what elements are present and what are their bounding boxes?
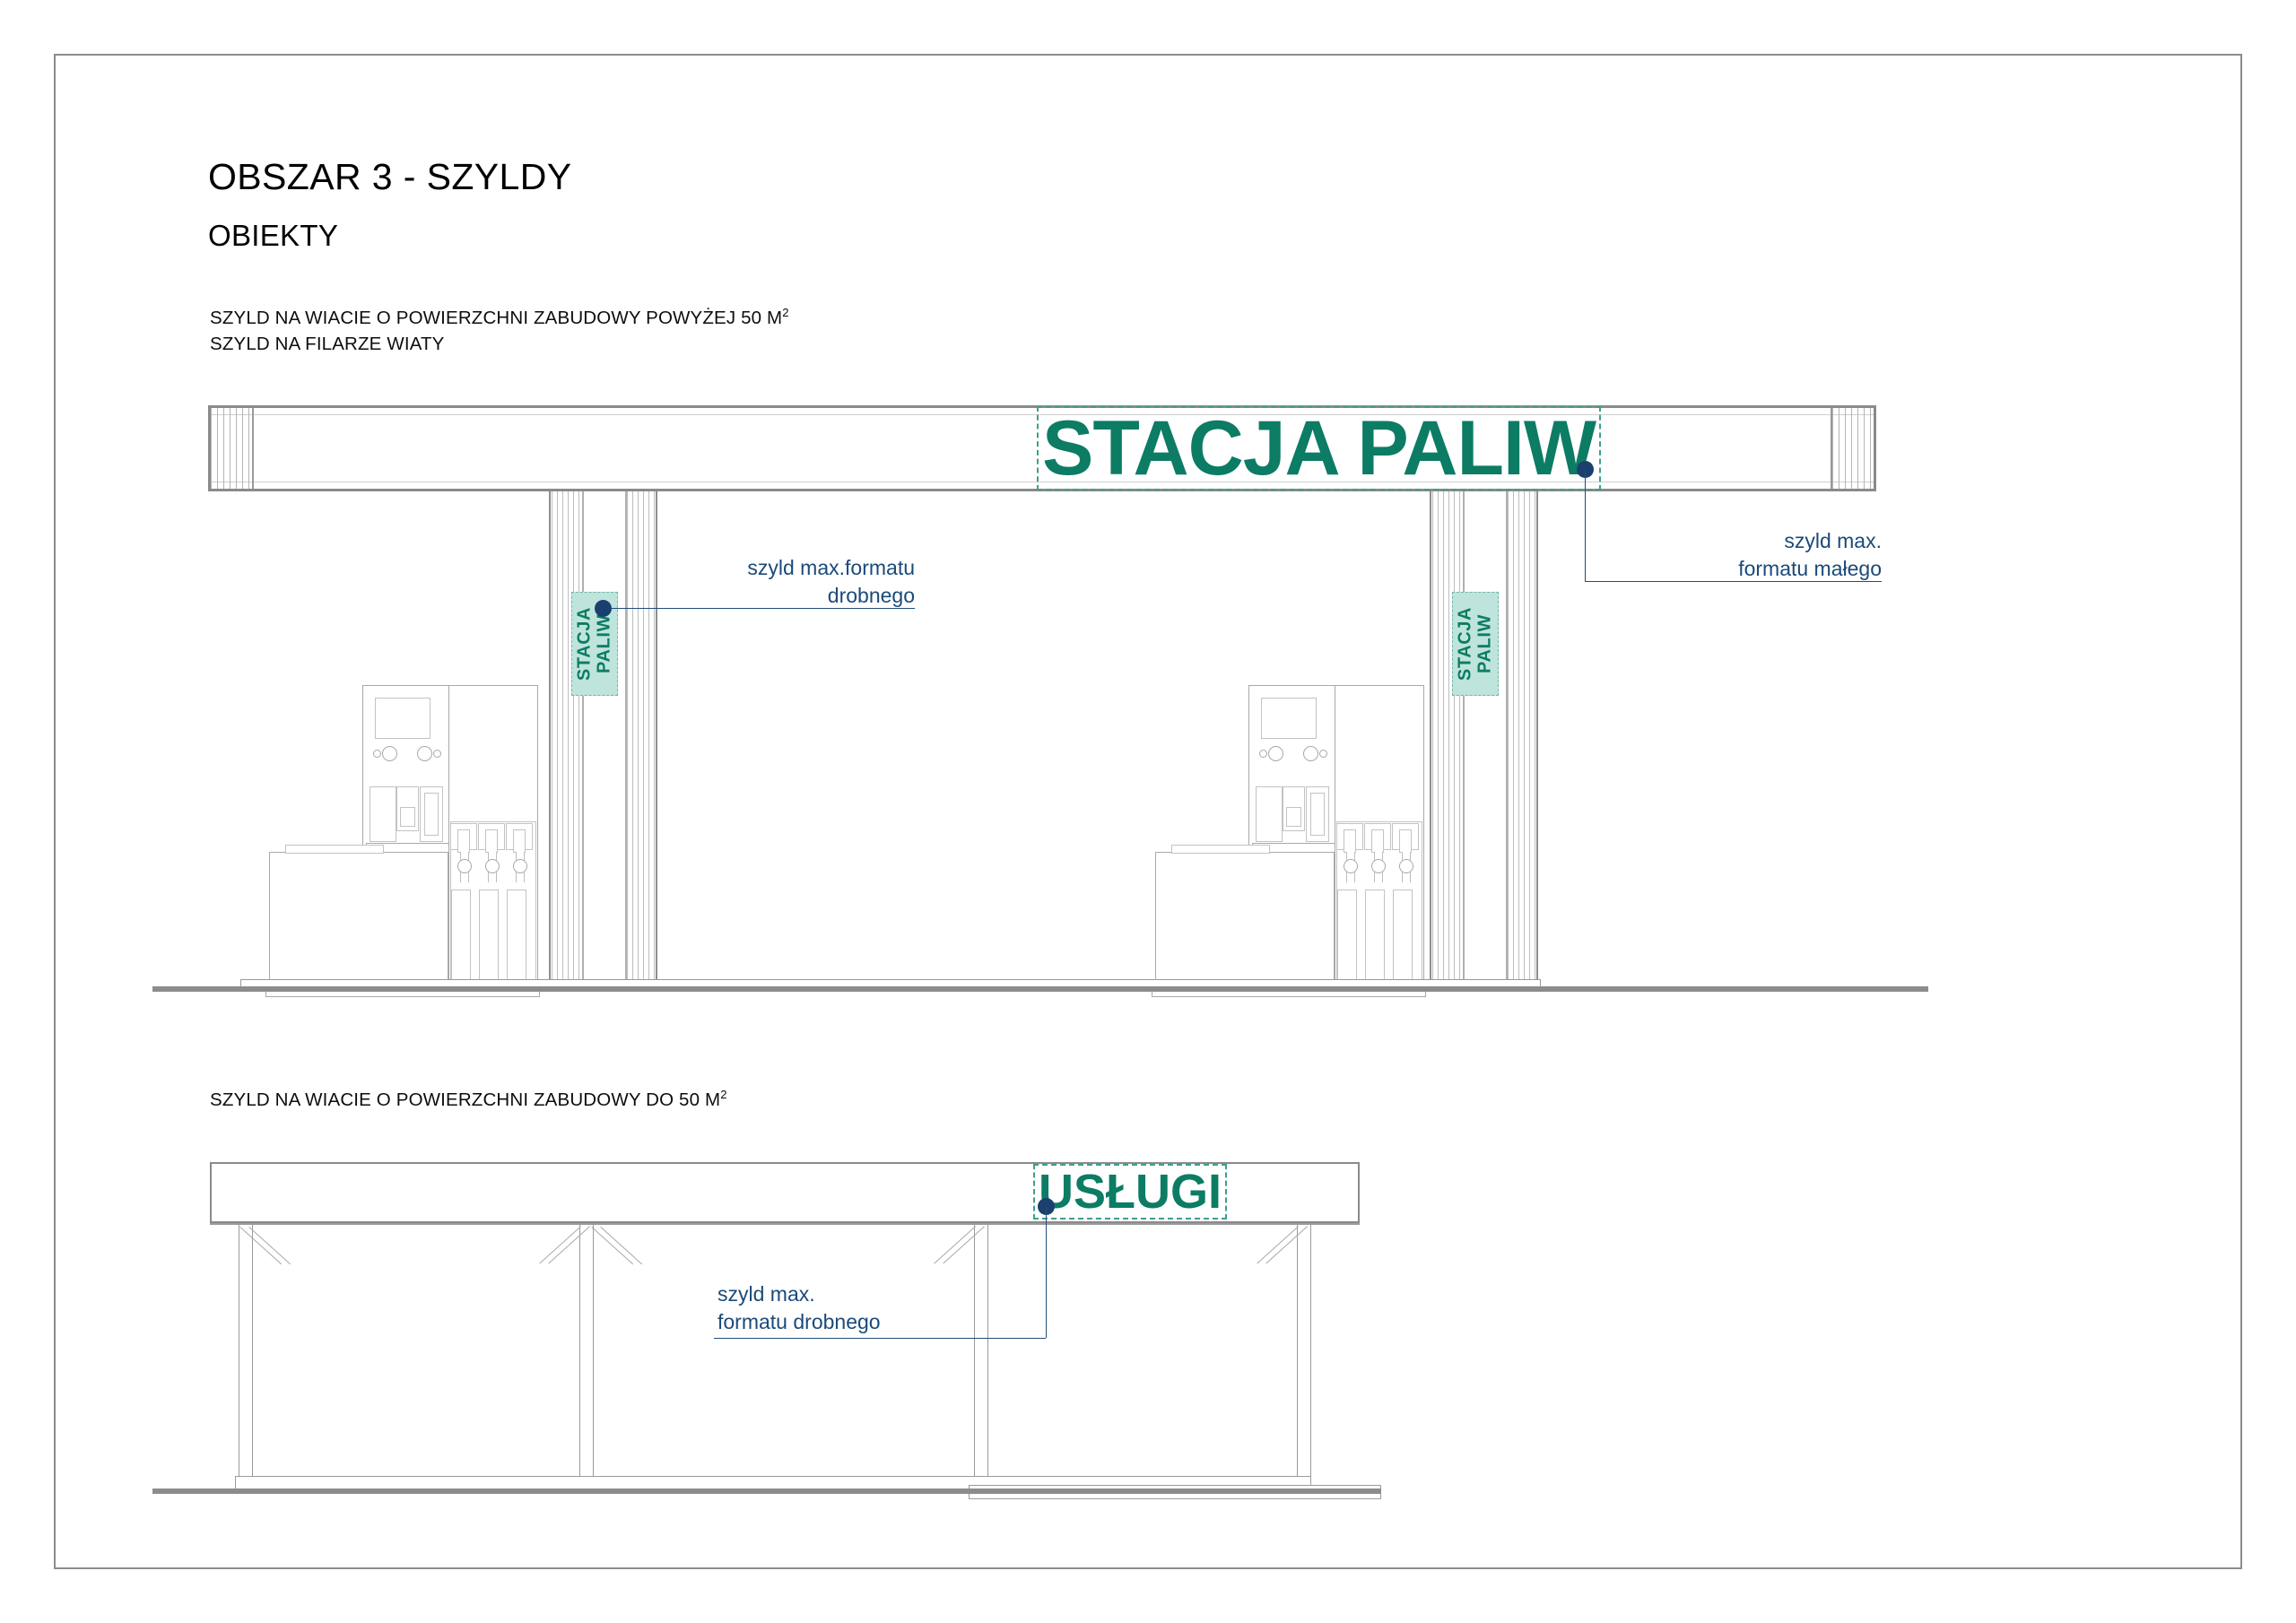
lower-ground-line (152, 1488, 1381, 1494)
canopy2-brace-2a (539, 1226, 581, 1263)
canopy2-sign-text: USŁUGI (1037, 1167, 1223, 1216)
leader-line-drobny-lower-vertical (1046, 1207, 1047, 1338)
leader-line-drobny-lower-horizontal (714, 1338, 1046, 1339)
canopy2-brace-3b (600, 1227, 642, 1264)
canopy2-brace-1b (248, 1227, 291, 1264)
canopy2-brace-4a (934, 1226, 976, 1263)
canopy2-column-3 (974, 1225, 988, 1478)
canopy2-roof-beam (210, 1223, 1360, 1225)
callout-drobny-lower-line-1: szyld max. (717, 1280, 1022, 1308)
canopy2-column-2 (579, 1225, 594, 1478)
canopy2-sign-uslugi: USŁUGI (1037, 1160, 1223, 1223)
canopy2-brace-3a (591, 1227, 633, 1264)
lower-elevation-drawing: USŁUGI szyld max. formatu drobnego (0, 0, 2296, 1623)
canopy2-column-4 (1297, 1225, 1311, 1478)
canopy2-column-1 (239, 1225, 253, 1478)
canopy2-brace-5a (1257, 1226, 1299, 1263)
callout-drobny-lower-line-2: formatu drobnego (717, 1308, 1022, 1336)
callout-drobny-lower: szyld max. formatu drobnego (717, 1280, 1022, 1335)
